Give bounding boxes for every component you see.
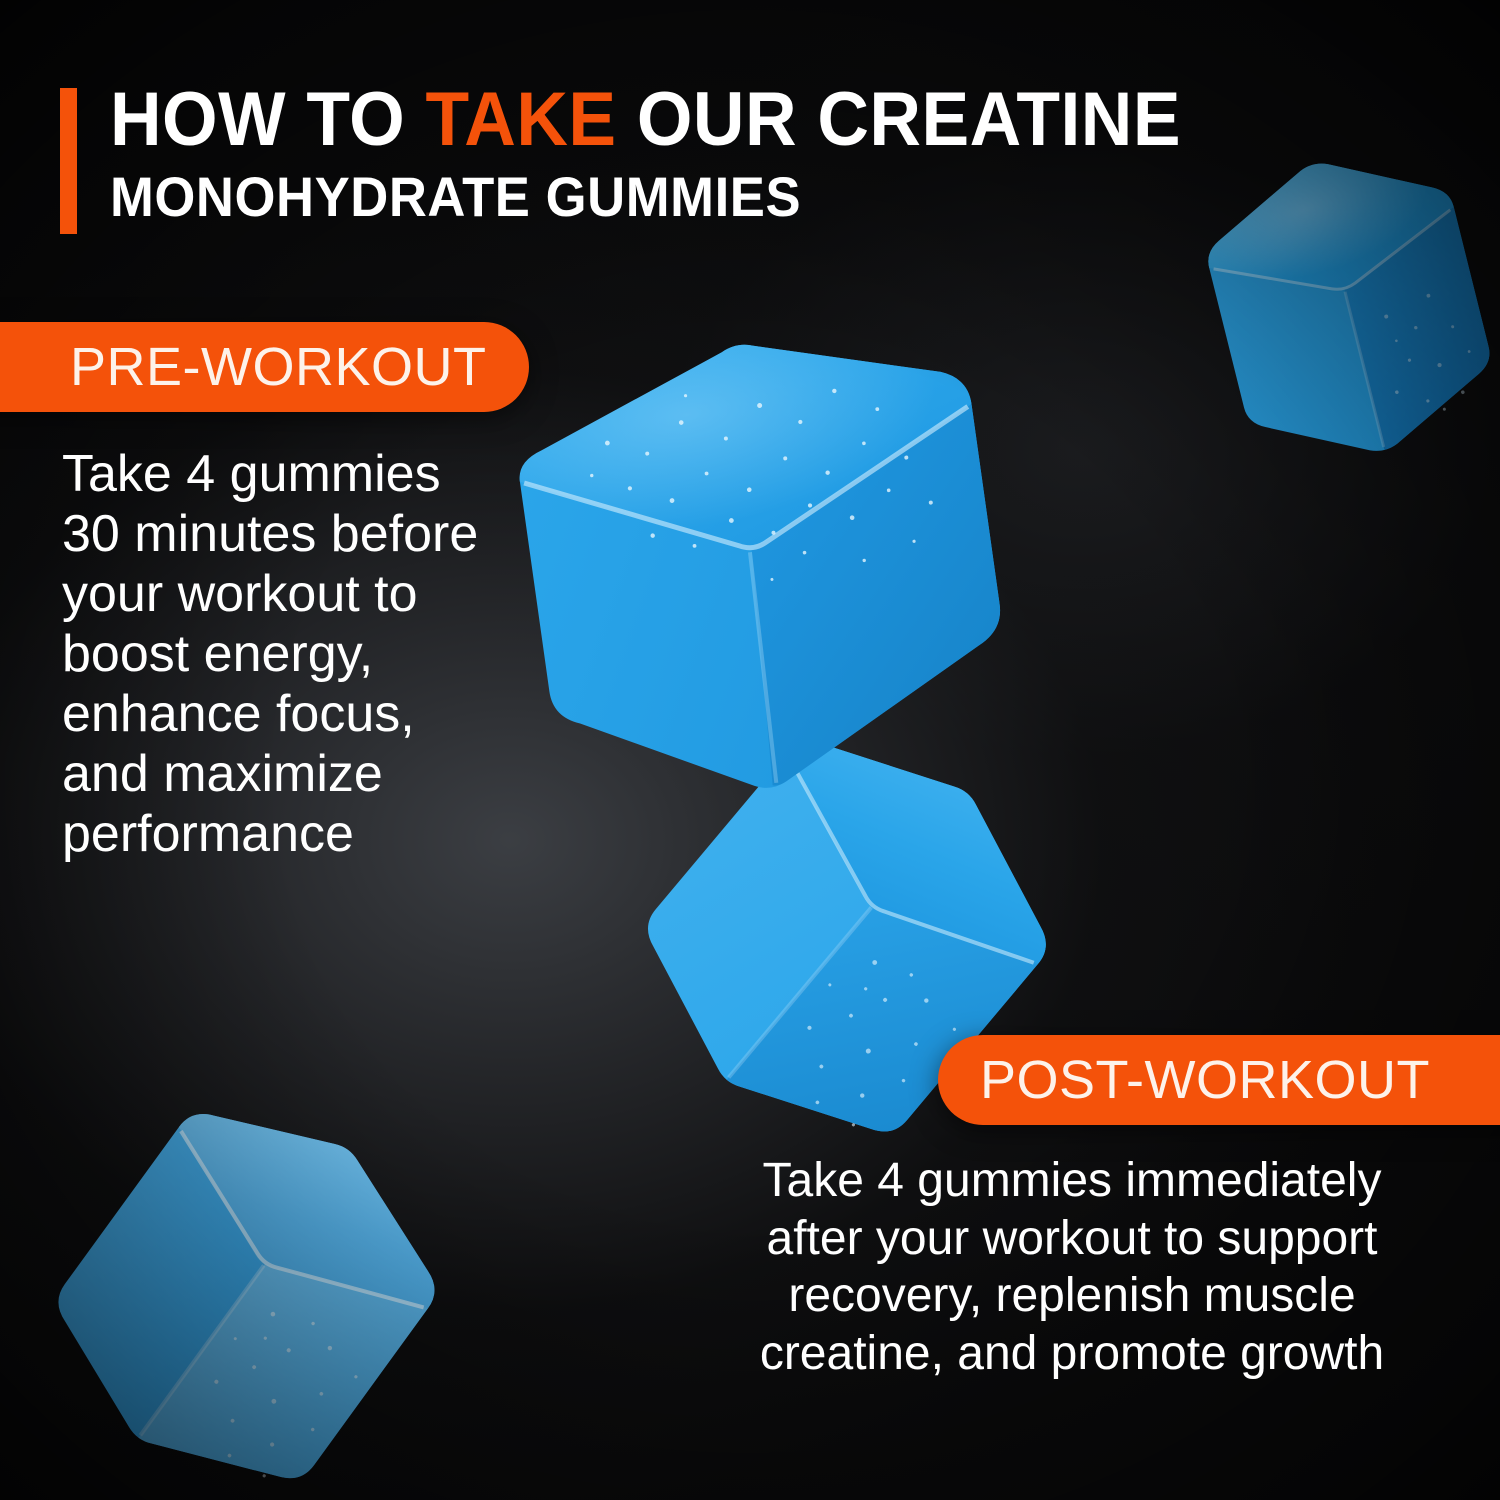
headline-text-after-highlight: OUR CREATINE xyxy=(617,77,1181,162)
pre-workout-line: performance xyxy=(62,804,532,864)
pre-workout-label-text: PRE-WORKOUT xyxy=(70,336,487,398)
post-workout-line: recovery, replenish muscle xyxy=(702,1267,1442,1325)
post-workout-label-pill: POST-WORKOUT xyxy=(938,1035,1500,1125)
page-title-line-1: HOW TO TAKE OUR CREATINE xyxy=(110,84,1360,157)
pre-workout-line: boost energy, xyxy=(62,624,532,684)
headline-highlight-word: TAKE xyxy=(426,77,617,162)
pre-workout-line: Take 4 gummies xyxy=(62,444,532,504)
post-workout-label-text: POST-WORKOUT xyxy=(980,1049,1430,1111)
pre-workout-description: Take 4 gummies 30 minutes before your wo… xyxy=(62,444,532,864)
headline-text-before-highlight: HOW TO xyxy=(110,77,426,162)
page-subtitle-line-2: MONOHYDRATE GUMMIES xyxy=(110,169,1360,225)
pre-workout-line: enhance focus, xyxy=(62,684,532,744)
pre-workout-line: 30 minutes before xyxy=(62,504,532,564)
post-workout-line: creatine, and promote growth xyxy=(702,1325,1442,1383)
pre-workout-line: your workout to xyxy=(62,564,532,624)
post-workout-line: Take 4 gummies immediately xyxy=(702,1152,1442,1210)
headline-block: HOW TO TAKE OUR CREATINE MONOHYDRATE GUM… xyxy=(60,84,1440,225)
pre-workout-line: and maximize xyxy=(62,744,532,804)
creatine-gummies-infographic: HOW TO TAKE OUR CREATINE MONOHYDRATE GUM… xyxy=(0,0,1500,1500)
post-workout-description: Take 4 gummies immediately after your wo… xyxy=(702,1152,1442,1382)
post-workout-line: after your workout to support xyxy=(702,1210,1442,1268)
orange-accent-bar xyxy=(60,88,77,234)
pre-workout-label-pill: PRE-WORKOUT xyxy=(0,322,529,412)
